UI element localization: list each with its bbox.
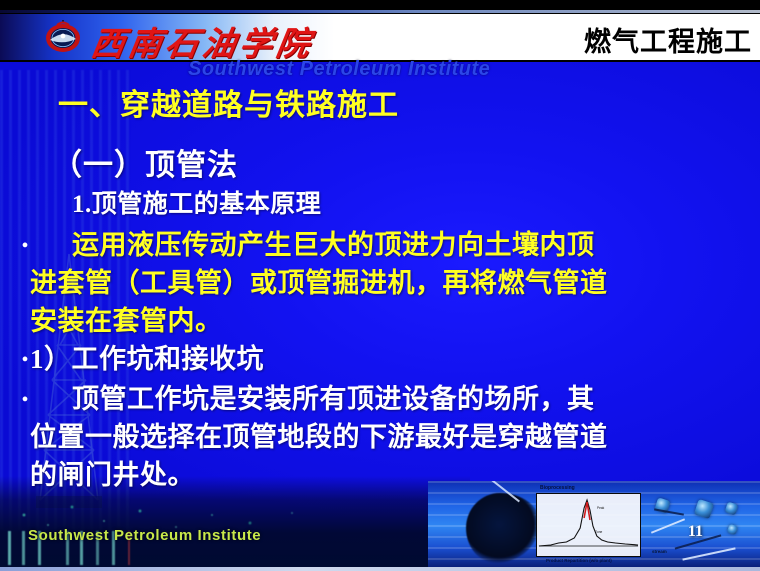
bullet-text-block: 1）工作坑和接收坑: [14, 340, 750, 378]
bullet-text-block: 运用液压传动产生巨大的顶进力向土壤内顶 进套管（工具管）或顶管掘进机，再将燃气管…: [14, 226, 750, 340]
header-top-line: [0, 10, 760, 13]
bottom-divider: [0, 567, 760, 571]
bullet-line: 安装在套管内。: [14, 302, 750, 340]
slide-header: 西南石油学院 燃气工程施工: [0, 0, 760, 62]
slide-canvas: 西南石油学院 燃气工程施工 Southwest Petroleum Instit…: [0, 0, 760, 571]
bullet-line: 1）工作坑和接收坑: [14, 340, 750, 378]
bullet-item: • 运用液压传动产生巨大的顶进力向土壤内顶 进套管（工具管）或顶管掘进机，再将燃…: [14, 226, 750, 340]
footer-institute-name: Southwest Petroleum Institute: [28, 527, 261, 544]
decorative-blob: [466, 493, 540, 563]
decorative-chromatogram-chart: Peak Zone: [536, 493, 641, 557]
chart-side-label: Zone: [595, 530, 602, 534]
bullet-marker: •: [14, 390, 36, 410]
bullet-line: 位置一般选择在顶管地段的下游最好是穿越管道: [14, 418, 750, 456]
section-heading-2: （一）顶管法: [52, 140, 238, 184]
section-heading-1: 一、穿越道路与铁路施工: [58, 80, 399, 124]
chart-peak-label: Peak: [597, 506, 604, 510]
decorative-chart-xlabel: Product Repartition (w/o plant): [546, 558, 612, 563]
bullet-text-block: 顶管工作坑是安装所有顶进设备的场所，其 位置一般选择在顶管地段的下游最好是穿越管…: [14, 380, 750, 494]
molecule-icon: [725, 502, 739, 516]
page-number: 11: [688, 523, 703, 541]
bullet-item: • 顶管工作坑是安装所有顶进设备的场所，其 位置一般选择在顶管地段的下游最好是穿…: [14, 380, 750, 494]
molecule-icon: [694, 499, 714, 519]
decorative-rod: [682, 547, 735, 560]
bullet-marker: •: [14, 236, 36, 256]
molecule-icon: [727, 524, 738, 535]
bullet-line: 顶管工作坑是安装所有顶进设备的场所，其: [14, 380, 750, 418]
decorative-image-strip: Bioprocessing Peak Zone Product Repartit…: [428, 481, 760, 567]
section-heading-3: 1.顶管施工的基本原理: [72, 184, 321, 220]
decorative-chart-title: Bioprocessing: [540, 485, 575, 491]
bullet-item: • 1）工作坑和接收坑: [14, 340, 750, 378]
bullet-line: 运用液压传动产生巨大的顶进力向土壤内顶: [14, 226, 750, 264]
header-subtitle-english: Southwest Petroleum Institute: [188, 58, 490, 81]
bullet-marker: •: [14, 350, 36, 370]
decorative-rod: [651, 518, 685, 533]
bullet-line: 进套管（工具管）或顶管掘进机，再将燃气管道: [14, 264, 750, 302]
university-emblem-icon: [44, 20, 82, 54]
decorative-word: stream: [652, 549, 667, 554]
decorative-rod: [654, 508, 684, 515]
course-title: 燃气工程施工: [584, 20, 752, 59]
